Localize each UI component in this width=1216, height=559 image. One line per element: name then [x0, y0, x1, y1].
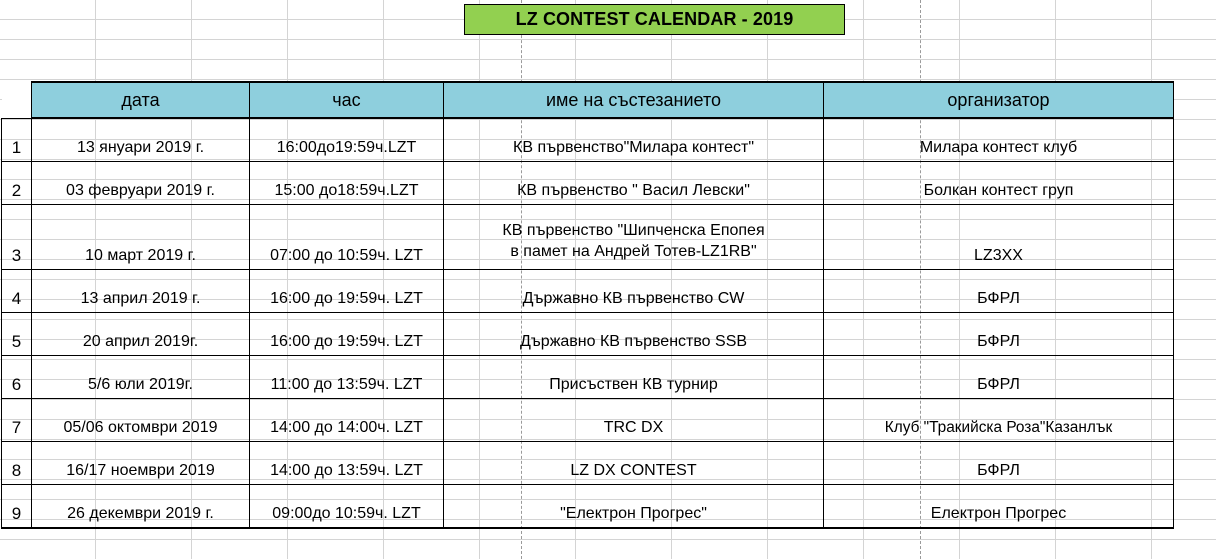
contest-name-cell[interactable]: КВ първенство "Шипченска Епопеяв памет н…: [444, 205, 824, 270]
table-row[interactable]: 520 април 2019г.16:00 до 19:59ч. LZTДърж…: [2, 313, 1174, 356]
time-cell[interactable]: 07:00 до 10:59ч. LZT: [250, 205, 444, 270]
contest-name-cell[interactable]: "Електрон Прогрес": [444, 485, 824, 529]
table-row[interactable]: 926 декември 2019 г.09:00до 10:59ч. LZT"…: [2, 485, 1174, 529]
date-cell[interactable]: 26 декември 2019 г.: [32, 485, 250, 529]
organizer-cell[interactable]: Електрон Прогрес: [824, 485, 1174, 529]
time-cell[interactable]: 15:00 до18:59ч.LZT: [250, 162, 444, 205]
header-corner: [2, 82, 32, 118]
date-cell[interactable]: 03 февруари 2019 г.: [32, 162, 250, 205]
table-row[interactable]: 203 февруари 2019 г.15:00 до18:59ч.LZTКВ…: [2, 162, 1174, 205]
header-contest-name: име на състезанието: [444, 82, 824, 118]
table-body: 113 януари 2019 г.16:00до19:59ч.LZTКВ пъ…: [2, 118, 1174, 528]
row-number-cell[interactable]: 9: [2, 485, 32, 529]
table-row[interactable]: 816/17 ноември 201914:00 до 13:59ч. LZTL…: [2, 442, 1174, 485]
contest-name-cell[interactable]: Държавно КВ първенство SSB: [444, 313, 824, 356]
organizer-cell[interactable]: БФРЛ: [824, 442, 1174, 485]
time-cell[interactable]: 14:00 до 13:59ч. LZT: [250, 442, 444, 485]
row-number-cell[interactable]: 1: [2, 118, 32, 162]
row-number-cell[interactable]: 6: [2, 356, 32, 399]
contest-name-cell[interactable]: КВ първенство " Васил Левски": [444, 162, 824, 205]
table-row[interactable]: 113 януари 2019 г.16:00до19:59ч.LZTКВ пъ…: [2, 118, 1174, 162]
contest-name-cell[interactable]: Държавно КВ първенство CW: [444, 270, 824, 313]
row-number-cell[interactable]: 4: [2, 270, 32, 313]
table-row[interactable]: 65/6 юли 2019г.11:00 до 13:59ч. LZTПрисъ…: [2, 356, 1174, 399]
row-number-cell[interactable]: 3: [2, 205, 32, 270]
page-title: LZ CONTEST CALENDAR - 2019: [464, 4, 845, 35]
table-row[interactable]: 705/06 октомври 201914:00 до 14:00ч. LZT…: [2, 399, 1174, 442]
row-number-cell[interactable]: 2: [2, 162, 32, 205]
time-cell[interactable]: 11:00 до 13:59ч. LZT: [250, 356, 444, 399]
contest-name-cell[interactable]: Присъствен КВ турнир: [444, 356, 824, 399]
organizer-cell[interactable]: Милара контест клуб: [824, 118, 1174, 162]
date-cell[interactable]: 05/06 октомври 2019: [32, 399, 250, 442]
organizer-cell[interactable]: Болкан контест груп: [824, 162, 1174, 205]
date-cell[interactable]: 5/6 юли 2019г.: [32, 356, 250, 399]
table-header-row: дата час име на състезанието организатор: [2, 82, 1174, 118]
time-cell[interactable]: 14:00 до 14:00ч. LZT: [250, 399, 444, 442]
contest-name-cell[interactable]: LZ DX CONTEST: [444, 442, 824, 485]
contest-name-line-1: КВ първенство "Шипченска Епопея: [446, 220, 821, 242]
date-cell[interactable]: 10 март 2019 г.: [32, 205, 250, 270]
date-cell[interactable]: 20 април 2019г.: [32, 313, 250, 356]
date-cell[interactable]: 13 януари 2019 г.: [32, 118, 250, 162]
time-cell[interactable]: 16:00до19:59ч.LZT: [250, 118, 444, 162]
organizer-cell[interactable]: Клуб "Тракийска Роза"Казанлък: [824, 399, 1174, 442]
header-time: час: [250, 82, 444, 118]
time-cell[interactable]: 16:00 до 19:59ч. LZT: [250, 313, 444, 356]
organizer-cell[interactable]: LZ3XX: [824, 205, 1174, 270]
contest-name-cell[interactable]: TRC DX: [444, 399, 824, 442]
row-number-cell[interactable]: 8: [2, 442, 32, 485]
header-organizer: организатор: [824, 82, 1174, 118]
time-cell[interactable]: 09:00до 10:59ч. LZT: [250, 485, 444, 529]
table-row[interactable]: 310 март 2019 г.07:00 до 10:59ч. LZTКВ п…: [2, 205, 1174, 270]
time-cell[interactable]: 16:00 до 19:59ч. LZT: [250, 270, 444, 313]
row-number-cell[interactable]: 5: [2, 313, 32, 356]
contest-calendar-table: дата час име на състезанието организатор…: [1, 81, 1174, 529]
contest-name-line-2: в памет на Андрей Тотев-LZ1RB": [446, 241, 821, 263]
organizer-cell[interactable]: БФРЛ: [824, 270, 1174, 313]
table-row[interactable]: 413 април 2019 г.16:00 до 19:59ч. LZTДър…: [2, 270, 1174, 313]
date-cell[interactable]: 16/17 ноември 2019: [32, 442, 250, 485]
contest-name-cell[interactable]: КВ първенство"Милара контест": [444, 118, 824, 162]
row-number-cell[interactable]: 7: [2, 399, 32, 442]
date-cell[interactable]: 13 април 2019 г.: [32, 270, 250, 313]
header-date: дата: [32, 82, 250, 118]
organizer-cell[interactable]: БФРЛ: [824, 356, 1174, 399]
organizer-cell[interactable]: БФРЛ: [824, 313, 1174, 356]
